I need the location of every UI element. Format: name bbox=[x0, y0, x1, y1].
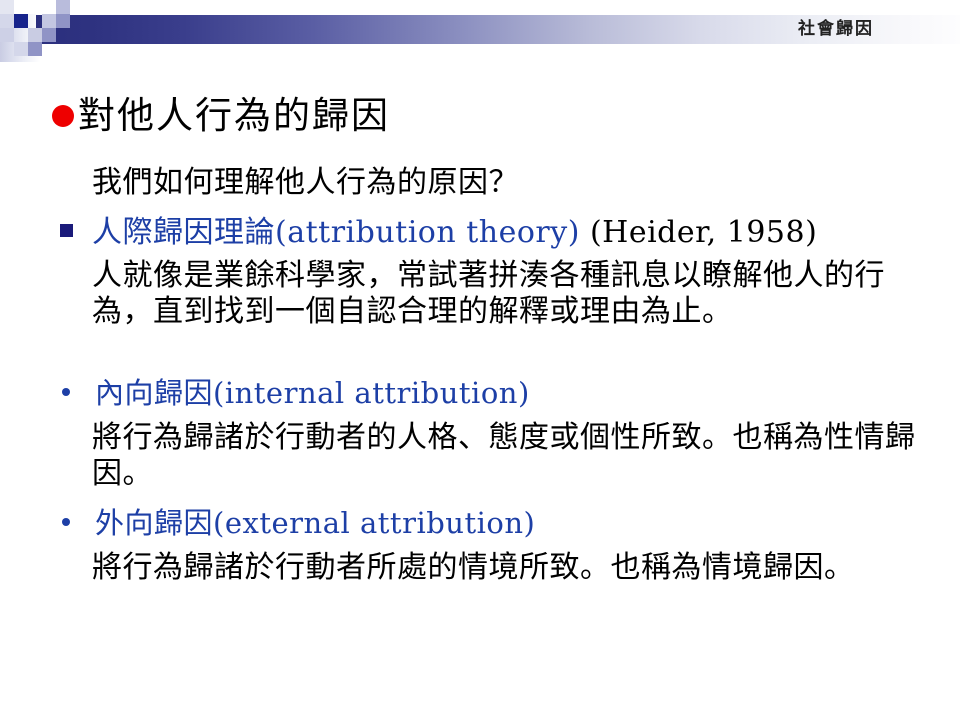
internal-attribution-description: 將行為歸諸於行動者的人格、態度或個性所致。也稱為性情歸因。 bbox=[92, 420, 920, 492]
bullet-item-external-attribution: 外向歸因(external attribution) bbox=[62, 504, 952, 542]
decoration-square bbox=[0, 14, 14, 28]
slide-header: 社會歸因 bbox=[0, 0, 960, 62]
slide-header-title: 社會歸因 bbox=[798, 17, 874, 42]
decoration-square bbox=[28, 0, 42, 14]
decoration-square bbox=[14, 0, 28, 14]
decoration-square bbox=[56, 0, 70, 14]
decoration-square bbox=[28, 42, 42, 56]
decoration-square bbox=[0, 0, 14, 14]
decoration-square bbox=[56, 14, 70, 28]
main-heading-row: 對他人行為的歸因 bbox=[52, 95, 390, 137]
attribution-theory-description: 人就像是業餘科學家，常試著拼湊各種訊息以瞭解他人的行為，直到找到一個自認合理的解… bbox=[92, 258, 920, 330]
attribution-theory-citation: (Heider, 1958) bbox=[580, 215, 817, 250]
intro-question-line: 我們如何理解他人行為的原因？ bbox=[92, 164, 920, 201]
red-disc-bullet-icon bbox=[52, 105, 74, 127]
decoration-square bbox=[42, 14, 56, 28]
decoration-square bbox=[0, 28, 14, 42]
bullet-item-internal-attribution: 內向歸因(internal attribution) bbox=[62, 374, 952, 412]
square-bullet-icon bbox=[60, 224, 73, 237]
decoration-square bbox=[14, 42, 28, 56]
bullet-item-attribution-theory: 人際歸因理論(attribution theory) (Heider, 1958… bbox=[60, 214, 950, 252]
decoration-square bbox=[42, 28, 56, 42]
decoration-square bbox=[28, 28, 42, 42]
decoration-square bbox=[14, 14, 28, 28]
external-attribution-english: (external attribution) bbox=[213, 506, 535, 540]
external-attribution-description: 將行為歸諸於行動者所處的情境所致。也稱為情境歸因。 bbox=[92, 550, 920, 586]
attribution-theory-term: 人際歸因理論(attribution theory) bbox=[92, 215, 580, 250]
internal-attribution-chinese: 內向歸因 bbox=[95, 376, 213, 410]
external-attribution-chinese: 外向歸因 bbox=[95, 506, 213, 540]
page-title: 對他人行為的歸因 bbox=[78, 95, 390, 137]
dot-bullet-icon bbox=[62, 518, 70, 526]
dot-bullet-icon bbox=[62, 388, 70, 396]
internal-attribution-english: (internal attribution) bbox=[213, 376, 530, 410]
slide-body: 對他人行為的歸因 我們如何理解他人行為的原因？ 人際歸因理論(attributi… bbox=[0, 62, 960, 720]
